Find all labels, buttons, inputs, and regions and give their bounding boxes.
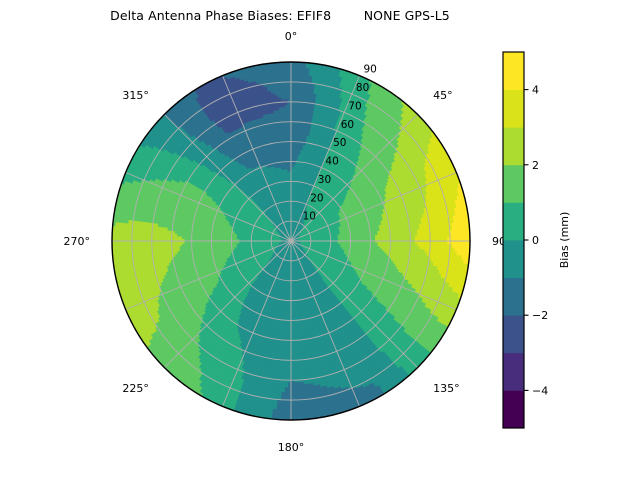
colorbar-band — [503, 390, 524, 428]
colorbar-band — [503, 52, 524, 90]
colorbar-band — [503, 315, 524, 353]
colorbar-band — [503, 127, 524, 165]
colorbar-ticks: −4−2024 — [524, 84, 548, 398]
colorbar-axis-label: Bias (mm) — [558, 212, 571, 269]
colorbar-tick-label: 2 — [532, 159, 539, 172]
colorbar-band — [503, 90, 524, 128]
figure-canvas: Delta Antenna Phase Biases: EFIF8 NONE G… — [0, 0, 640, 480]
colorbar-band — [503, 165, 524, 203]
colorbar-band — [503, 240, 524, 278]
colorbar-tick-label: −4 — [532, 384, 548, 397]
colorbar-tick-label: −2 — [532, 309, 548, 322]
colorbar-tick-label: 4 — [532, 84, 539, 97]
colorbar: −4−2024 Bias (mm) — [0, 0, 640, 480]
colorbar-band — [503, 278, 524, 316]
colorbar-band — [503, 202, 524, 240]
colorbar-tick-label: 0 — [532, 234, 539, 247]
colorbar-band — [503, 353, 524, 391]
colorbar-bands — [503, 52, 524, 428]
